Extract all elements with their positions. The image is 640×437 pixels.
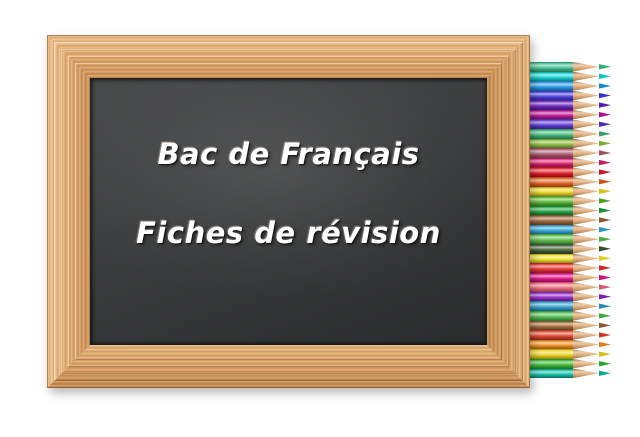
poster-canvas: Bac de Français Fiches de révision <box>0 0 640 437</box>
chalkboard-surface: Bac de Français Fiches de révision <box>90 78 487 345</box>
pencil-spacer <box>611 263 635 273</box>
pencil-sharpened-wood <box>573 215 599 225</box>
pencil-lead-tip <box>599 158 611 168</box>
pencil-lead-tip <box>599 110 611 120</box>
pencil-lead-tip <box>599 321 611 331</box>
pencil-sharpened-wood <box>573 311 599 321</box>
pencil-lead-tip <box>599 196 611 206</box>
pencil-spacer <box>611 196 635 206</box>
pencil-sharpened-wood <box>573 349 599 359</box>
pencil-sharpened-wood <box>573 321 599 331</box>
pencil-spacer <box>611 225 635 235</box>
pencil-sharpened-wood <box>573 148 599 158</box>
pencil-sharpened-wood <box>573 167 599 177</box>
pencil-sharpened-wood <box>573 292 599 302</box>
pencil-lead-tip <box>599 91 611 101</box>
pencil-spacer <box>611 254 635 264</box>
pencil-spacer <box>611 349 635 359</box>
pencil-lead-tip <box>599 119 611 129</box>
pencil-sharpened-wood <box>573 225 599 235</box>
pencil-spacer <box>611 139 635 149</box>
pencil-lead-tip <box>599 177 611 187</box>
pencil-sharpened-wood <box>573 263 599 273</box>
pencil-lead-tip <box>599 244 611 254</box>
pencil-sharpened-wood <box>573 91 599 101</box>
pencil-sharpened-wood <box>573 110 599 120</box>
frame-side-right <box>487 35 530 388</box>
pencil-sharpened-wood <box>573 62 599 72</box>
pencil-sharpened-wood <box>573 196 599 206</box>
pencil-sharpened-wood <box>573 330 599 340</box>
pencil-spacer <box>611 129 635 139</box>
frame-side-bottom <box>47 345 530 388</box>
pencil-spacer <box>611 148 635 158</box>
pencil-sharpened-wood <box>573 100 599 110</box>
pencil-sharpened-wood <box>573 158 599 168</box>
frame-side-left <box>47 35 90 388</box>
pencil-spacer <box>611 301 635 311</box>
pencil-sharpened-wood <box>573 234 599 244</box>
pencil-sharpened-wood <box>573 206 599 216</box>
pencil-lead-tip <box>599 234 611 244</box>
pencil-lead-tip <box>599 72 611 82</box>
pencil-spacer <box>611 177 635 187</box>
pencil-spacer <box>611 359 635 369</box>
pencil-spacer <box>611 340 635 350</box>
pencil-spacer <box>611 311 635 321</box>
pencil-lead-tip <box>599 311 611 321</box>
pencil-lead-tip <box>599 187 611 197</box>
pencil-lead-tip <box>599 215 611 225</box>
pencil-lead-tip <box>599 100 611 110</box>
pencil-lead-tip <box>599 330 611 340</box>
pencil-lead-tip <box>599 292 611 302</box>
pencil-lead-tip <box>599 340 611 350</box>
pencil-lead-tip <box>599 129 611 139</box>
pencil-spacer <box>611 369 635 379</box>
pencil-spacer <box>611 81 635 91</box>
pencil-spacer <box>611 244 635 254</box>
pencil-spacer <box>611 292 635 302</box>
pencil-lead-tip <box>599 167 611 177</box>
pencil-sharpened-wood <box>573 340 599 350</box>
pencil-sharpened-wood <box>573 72 599 82</box>
pencil-lead-tip <box>599 301 611 311</box>
pencil-sharpened-wood <box>573 187 599 197</box>
pencil-sharpened-wood <box>573 244 599 254</box>
pencil-lead-tip <box>599 349 611 359</box>
pencil-spacer <box>611 91 635 101</box>
pencil-spacer <box>611 282 635 292</box>
pencil-sharpened-wood <box>573 254 599 264</box>
pencil-spacer <box>611 187 635 197</box>
pencil-lead-tip <box>599 273 611 283</box>
pencil-sharpened-wood <box>573 359 599 369</box>
pencil-spacer <box>611 72 635 82</box>
pencil-spacer <box>611 330 635 340</box>
pencil-sharpened-wood <box>573 177 599 187</box>
pencil-sharpened-wood <box>573 129 599 139</box>
pencil-lead-tip <box>599 225 611 235</box>
pencil-sharpened-wood <box>573 369 599 379</box>
pencil-lead-tip <box>599 206 611 216</box>
pencil-spacer <box>611 62 635 72</box>
pencil-spacer <box>611 110 635 120</box>
frame-side-top <box>47 35 530 78</box>
pencil-lead-tip <box>599 81 611 91</box>
pencil-spacer <box>611 321 635 331</box>
chalkboard-subtitle: Fiches de révision <box>136 216 441 250</box>
pencil-sharpened-wood <box>573 282 599 292</box>
pencil-sharpened-wood <box>573 301 599 311</box>
pencil-spacer <box>611 119 635 129</box>
pencil-lead-tip <box>599 139 611 149</box>
pencil-lead-tip <box>599 282 611 292</box>
pencil-sharpened-wood <box>573 81 599 91</box>
wooden-frame: Bac de Français Fiches de révision <box>47 35 530 388</box>
pencil-spacer <box>611 100 635 110</box>
pencil-lead-tip <box>599 359 611 369</box>
pencil-spacer <box>611 273 635 283</box>
pencil-spacer <box>611 234 635 244</box>
pencil-lead-tip <box>599 369 611 379</box>
pencil-lead-tip <box>599 62 611 72</box>
pencil-sharpened-wood <box>573 139 599 149</box>
chalkboard-title: Bac de Français <box>157 137 419 171</box>
pencil-spacer <box>611 158 635 168</box>
pencil-sharpened-wood <box>573 119 599 129</box>
pencil-spacer <box>611 215 635 225</box>
pencil-sharpened-wood <box>573 273 599 283</box>
pencil-lead-tip <box>599 148 611 158</box>
pencil-spacer <box>611 167 635 177</box>
pencil-lead-tip <box>599 263 611 273</box>
pencil-spacer <box>611 206 635 216</box>
pencil-lead-tip <box>599 254 611 264</box>
